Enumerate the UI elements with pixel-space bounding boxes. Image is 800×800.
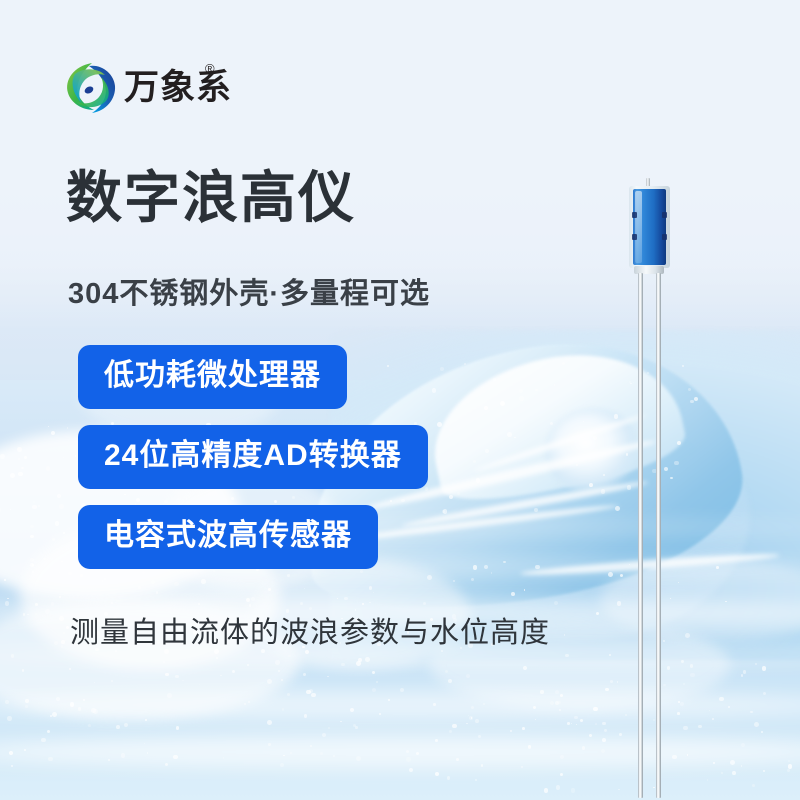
registered-trademark-icon: ® [205,62,215,75]
sensor-notch [662,234,667,240]
sensor-notch [632,212,637,218]
page-title: 数字浪高仪 [66,166,356,230]
brand-name: 万象系 [124,68,232,108]
sensor-head [629,186,670,268]
brand-logo: 万象系 ® [62,58,232,120]
feature-pill: 低功耗微处理器 [78,345,347,409]
stainless-probe-rod [638,273,643,798]
sensor-notch [632,234,637,240]
page-subtitle: 304不锈钢外壳·多量程可选 [68,275,430,313]
page-tagline: 测量自由流体的波浪参数与水位高度 [70,613,550,653]
sensor-head-highlight [635,191,642,263]
product-poster: 万象系 ® 数字浪高仪 304不锈钢外壳·多量程可选 低功耗微处理器 24位高精… [0,0,800,800]
globe-swirl-logo-icon [62,60,118,116]
sensor-notch [662,212,667,218]
feature-pill-list: 低功耗微处理器 24位高精度AD转换器 电容式波高传感器 [78,345,428,585]
feature-pill: 电容式波高传感器 [78,505,378,569]
stainless-probe-rod [656,273,661,798]
feature-pill: 24位高精度AD转换器 [78,425,428,489]
product-image [600,170,720,800]
